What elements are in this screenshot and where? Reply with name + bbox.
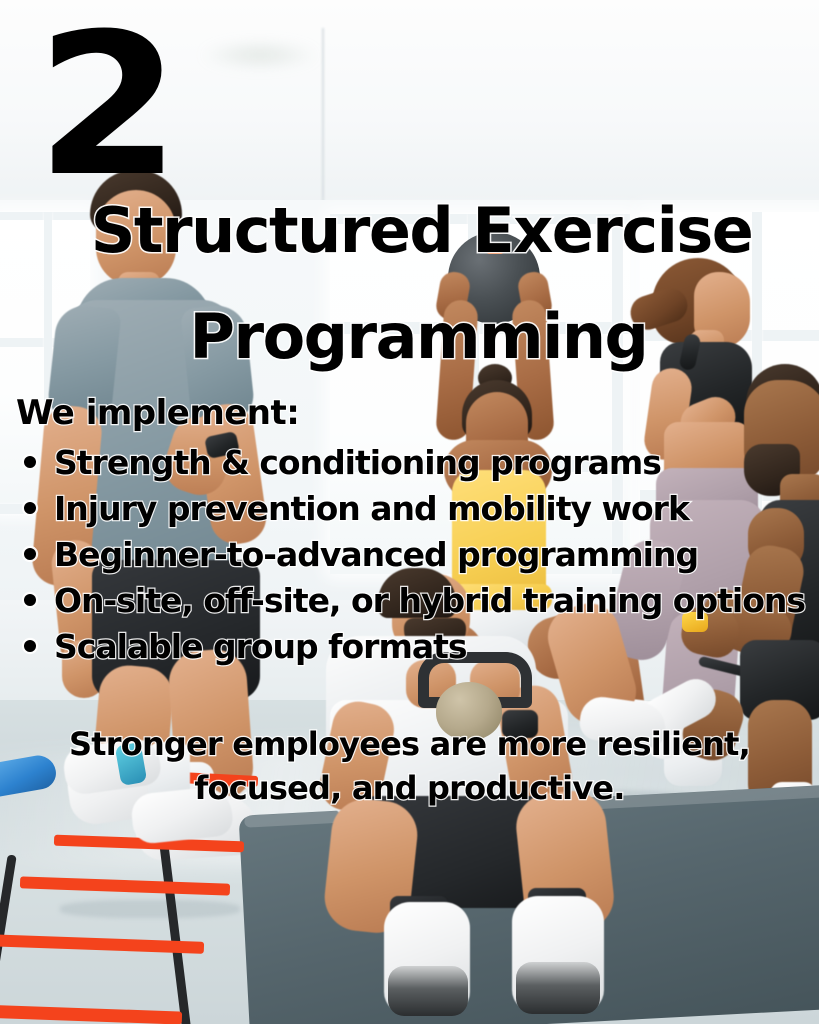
feature-bullet-list: Strength & conditioning programs Injury …	[22, 444, 812, 674]
list-item-label: Strength & conditioning programs	[54, 443, 661, 482]
tagline-line-1: Stronger employees are more resilient,	[0, 722, 819, 766]
list-item: On-site, off-site, or hybrid training op…	[22, 582, 812, 619]
ladder-rung	[0, 1004, 182, 1024]
tagline: Stronger employees are more resilient, f…	[0, 722, 819, 810]
title-line-2: Programming	[0, 306, 819, 368]
list-item-label: Injury prevention and mobility work	[54, 489, 689, 528]
bullet-dot-icon	[24, 594, 36, 606]
wall-smudge	[200, 40, 320, 70]
tagline-line-2: focused, and productive.	[0, 766, 819, 810]
ladder-rung	[20, 876, 230, 895]
step-number-badge: 2	[36, 8, 176, 204]
bullet-dot-icon	[24, 548, 36, 560]
bullet-dot-icon	[24, 640, 36, 652]
list-item-label: Beginner-to-advanced programming	[54, 535, 698, 574]
list-item-label: Scalable group formats	[54, 627, 467, 666]
bullet-dot-icon	[24, 456, 36, 468]
list-item: Scalable group formats	[22, 628, 812, 665]
list-item-label: On-site, off-site, or hybrid training op…	[54, 581, 805, 620]
wall-column-edge	[322, 28, 324, 218]
page-title: Structured Exercise Programming	[0, 200, 819, 368]
title-line-1: Structured Exercise	[0, 200, 819, 262]
intro-label: We implement:	[16, 396, 299, 430]
situp-shoe-sole-right	[516, 962, 600, 1014]
list-item: Beginner-to-advanced programming	[22, 536, 812, 573]
list-item: Injury prevention and mobility work	[22, 490, 812, 527]
bullet-dot-icon	[24, 502, 36, 514]
poster-canvas: 2 Structured Exercise Programming We imp…	[0, 0, 819, 1024]
situp-shoe-sole-left	[388, 966, 468, 1016]
list-item: Strength & conditioning programs	[22, 444, 812, 481]
